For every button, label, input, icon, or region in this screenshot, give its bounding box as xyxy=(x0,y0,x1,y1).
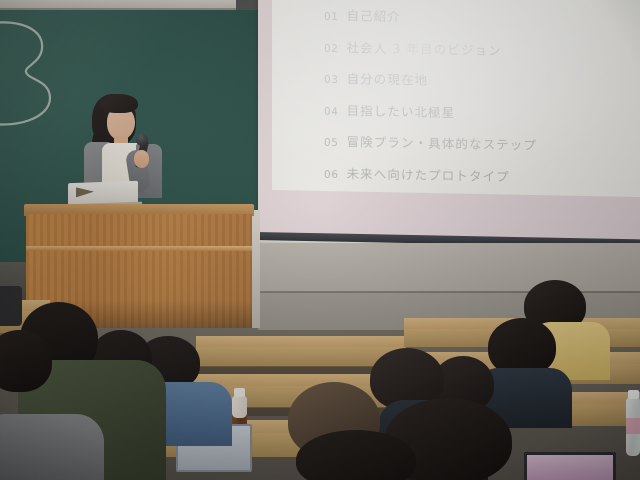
slide-row: 02 社会人 3 年目のビジョン xyxy=(324,36,638,61)
slide-item-number: 02 xyxy=(324,42,339,54)
audience-body-gray-shirt xyxy=(0,414,104,480)
slide-row: 04 目指したい北極星 xyxy=(324,99,638,124)
chalk-cloud-drawing xyxy=(0,14,76,134)
slide-item-text: 冒険プラン・具体的なステップ xyxy=(347,131,537,154)
slide-row: 05 冒険プラン・具体的なステップ xyxy=(324,131,638,156)
equipment-stand xyxy=(0,286,22,326)
slide-agenda-list: 01 自己紹介 02 社会人 3 年目のビジョン 03 自分の現在地 04 目指… xyxy=(288,0,638,195)
slide-item-text: 目指したい北極星 xyxy=(347,100,456,121)
slide-row: 06 未来へ向けたプロトタイプ xyxy=(324,162,638,187)
slide-item-number: 04 xyxy=(324,105,339,117)
wall-seam xyxy=(258,291,640,293)
slide-item-text: 未来へ向けたプロトタイプ xyxy=(347,163,510,185)
slide-row: 01 自己紹介 xyxy=(324,5,638,30)
podium-trim-line xyxy=(26,246,252,251)
slide-item-number: 01 xyxy=(324,11,339,23)
open-laptop-right xyxy=(524,452,616,480)
laptop-sticker-icon xyxy=(76,187,94,198)
slide-item-number: 03 xyxy=(324,74,339,86)
slide-item-text: 社会人 3 年目のビジョン xyxy=(347,37,502,59)
lecture-hall-photo: 01 自己紹介 02 社会人 3 年目のビジョン 03 自分の現在地 04 目指… xyxy=(0,0,640,480)
tea-bottle-cap xyxy=(234,388,245,397)
slide-row: 03 自分の現在地 xyxy=(324,68,638,93)
water-bottle-label xyxy=(626,418,640,434)
speaker-hand xyxy=(134,150,149,168)
slide-item-text: 自分の現在地 xyxy=(347,68,429,89)
water-bottle-cap xyxy=(628,390,639,399)
speaker-fringe xyxy=(100,94,138,113)
tea-bottle-label xyxy=(232,396,247,418)
slide-item-number: 06 xyxy=(324,168,339,180)
slide-item-number: 05 xyxy=(324,137,339,149)
slide-item-text: 自己紹介 xyxy=(347,5,401,25)
